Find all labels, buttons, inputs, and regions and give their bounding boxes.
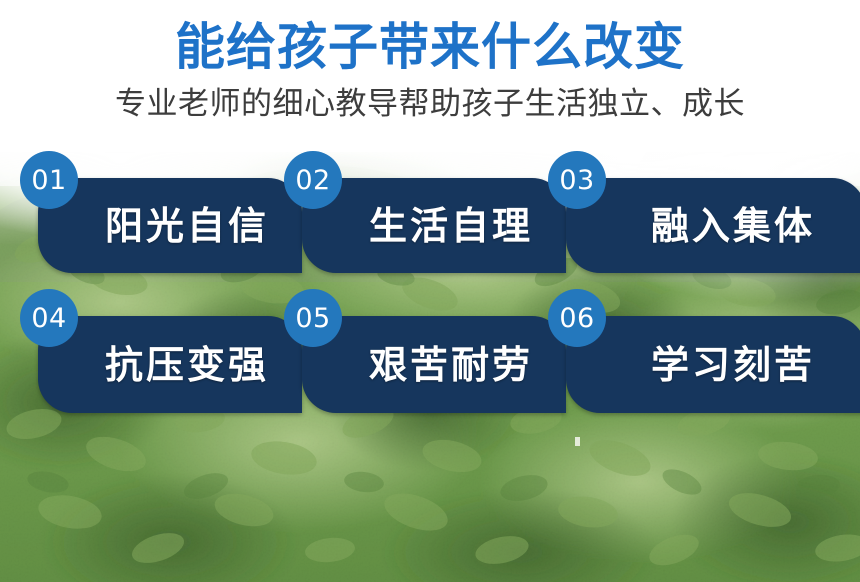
card-label-01: 阳光自信: [71, 207, 269, 245]
card-label-05: 艰苦耐劳: [335, 346, 533, 384]
benefit-card-01[interactable]: 01 阳光自信: [38, 178, 302, 273]
card-number-badge-02: 02: [284, 151, 342, 209]
card-number-badge-05: 05: [284, 289, 342, 347]
page-title: 能给孩子带来什么改变: [0, 0, 860, 77]
benefit-card-06[interactable]: 06 学习刻苦: [566, 316, 860, 413]
benefit-card-04[interactable]: 04 抗压变强: [38, 316, 302, 413]
card-label-02: 生活自理: [335, 207, 533, 245]
card-label-04: 抗压变强: [71, 346, 269, 384]
card-number-badge-06: 06: [548, 289, 606, 347]
benefit-card-02[interactable]: 02 生活自理: [302, 178, 566, 273]
card-label-03: 融入集体: [617, 207, 815, 245]
promo-poster: 能给孩子带来什么改变 专业老师的细心教导帮助孩子生活独立、成长 01 阳光自信 …: [0, 0, 860, 582]
card-number-badge-03: 03: [548, 151, 606, 209]
card-number-badge-04: 04: [20, 289, 78, 347]
card-label-06: 学习刻苦: [617, 346, 815, 384]
benefit-card-05[interactable]: 05 艰苦耐劳: [302, 316, 566, 413]
benefit-card-03[interactable]: 03 融入集体: [566, 178, 860, 273]
page-subtitle: 专业老师的细心教导帮助孩子生活独立、成长: [0, 77, 860, 124]
card-number-badge-01: 01: [20, 151, 78, 209]
card-row-1: 01 阳光自信 02 生活自理 03 融入集体: [0, 178, 860, 316]
card-row-2: 04 抗压变强 05 艰苦耐劳 06 学习刻苦: [0, 316, 860, 454]
header-block: 能给孩子带来什么改变 专业老师的细心教导帮助孩子生活独立、成长: [0, 0, 860, 124]
benefit-card-grid: 01 阳光自信 02 生活自理 03 融入集体 04 抗压变强 05 艰苦耐劳: [0, 178, 860, 454]
